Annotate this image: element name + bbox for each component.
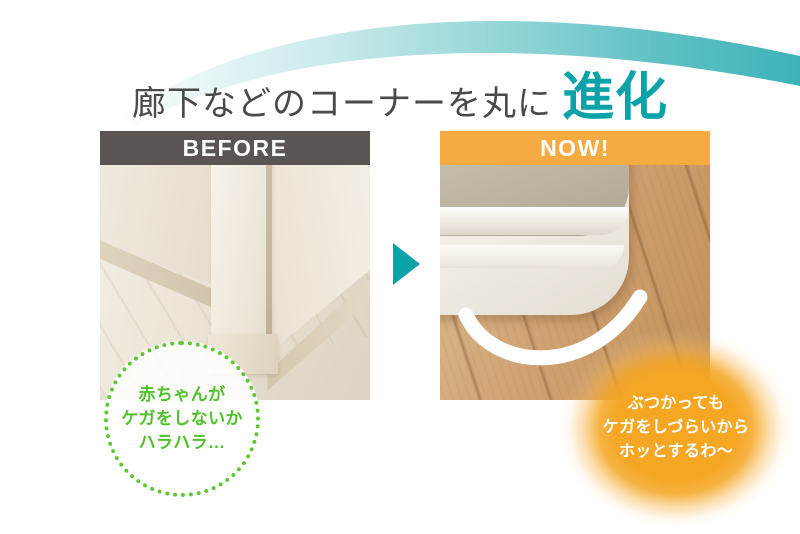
before-callout-line-3: ハラハラ… xyxy=(139,431,226,455)
page-title: 廊下などのコーナーを丸に進化 xyxy=(0,55,800,130)
before-callout-line-1: 赤ちゃんが xyxy=(139,383,226,407)
now-corner-trim-lower xyxy=(440,245,624,269)
poster-canvas: 廊下などのコーナーを丸に進化 BEFORE NOW! xyxy=(0,0,800,534)
now-callout-line-3: ホッとするわ〜 xyxy=(603,440,750,464)
before-panel-header: BEFORE xyxy=(100,131,370,165)
now-callout-line-1: ぶつかっても xyxy=(603,392,750,416)
before-callout-bubble: 赤ちゃんが ケガをしないか ハラハラ… xyxy=(104,341,260,497)
headline-accent-text: 進化 xyxy=(562,69,668,127)
now-callout-bubble: ぶつかっても ケガをしづらいから ホッとするわ〜 xyxy=(552,322,800,534)
now-corner-trim-upper xyxy=(440,207,629,235)
headline-main-text: 廊下などのコーナーを丸に xyxy=(132,85,552,123)
now-panel-header: NOW! xyxy=(440,131,710,165)
now-callout-line-2: ケガをしづらいから xyxy=(603,416,750,440)
now-callout-text: ぶつかっても ケガをしづらいから ホッとするわ〜 xyxy=(603,392,750,465)
comparison-arrow-icon xyxy=(393,243,420,285)
before-callout-line-2: ケガをしないか xyxy=(121,407,243,431)
